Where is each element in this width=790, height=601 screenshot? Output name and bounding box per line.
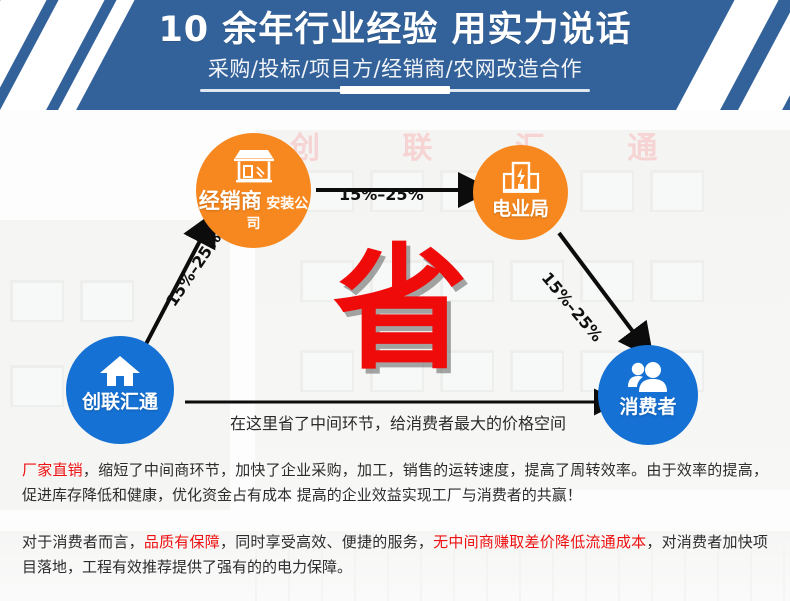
users-icon — [598, 361, 698, 398]
shop-icon — [196, 147, 311, 190]
footer-highlight-no-middleman: 无中间商赚取差价降低流通成本 — [433, 533, 646, 551]
footer-paragraph-2: 对于消费者而言，品质有保障，同时享受高效、便捷的服务，无中间商赚取差价降低流通成… — [22, 530, 768, 580]
footer-paragraph-1-body: ，缩短了中间商环节，加快了企业采购，加工，销售的运转速度，提高了周转效率。由于效… — [22, 461, 768, 504]
power-building-icon — [473, 161, 568, 200]
footer-highlight-direct-sale: 厂家直销 — [22, 461, 83, 479]
node-bureau-label: 电业局 — [492, 198, 549, 220]
footer-highlight-quality: 品质有保障 — [144, 533, 220, 551]
home-icon — [66, 354, 174, 393]
footer-paragraph-2-part-c: ，同时享受高效、便捷的服务， — [220, 533, 433, 551]
promo-banner: 10 余年行业经验 用实力说话 采购/投标/项目方/经销商/农网改造合作 — [0, 0, 790, 601]
header-title: 10 余年行业经验 用实力说话 — [0, 0, 790, 48]
node-bureau[interactable]: 电业局 — [473, 145, 568, 240]
distribution-flow-diagram: 经销商 安装公司 电业局 — [0, 110, 790, 455]
footer-paragraph-1: 厂家直销，缩短了中间商环节，加快了企业采购，加工，销售的运转速度，提高了周转效率… — [22, 458, 768, 508]
footer-paragraph-2-part-a: 对于消费者而言， — [22, 533, 144, 551]
header-subtitle: 采购/投标/项目方/经销商/农网改造合作 — [0, 48, 790, 80]
arrow-label-bureau-to-consumer: 15%–25% — [538, 268, 607, 345]
arrow-label-dealer-to-bureau: 15%–25% — [339, 185, 424, 204]
flow-bottom-caption: 在这里省了中间环节，给消费者最大的价格空间 — [203, 410, 593, 434]
save-character: 省 — [333, 242, 468, 377]
node-dealer-label: 经销商 — [199, 189, 262, 213]
header-banner: 10 余年行业经验 用实力说话 采购/投标/项目方/经销商/农网改造合作 — [0, 0, 790, 110]
node-company-label: 创联汇通 — [82, 391, 158, 413]
node-company[interactable]: 创联汇通 — [66, 336, 174, 444]
arrow-label-company-to-dealer: 15%–25% — [162, 229, 225, 310]
node-consumer-label: 消费者 — [619, 396, 676, 418]
node-consumer[interactable]: 消费者 — [598, 345, 698, 445]
footer-text-block: 厂家直销，缩短了中间商环节，加快了企业采购，加工，销售的运转速度，提高了周转效率… — [0, 458, 790, 580]
